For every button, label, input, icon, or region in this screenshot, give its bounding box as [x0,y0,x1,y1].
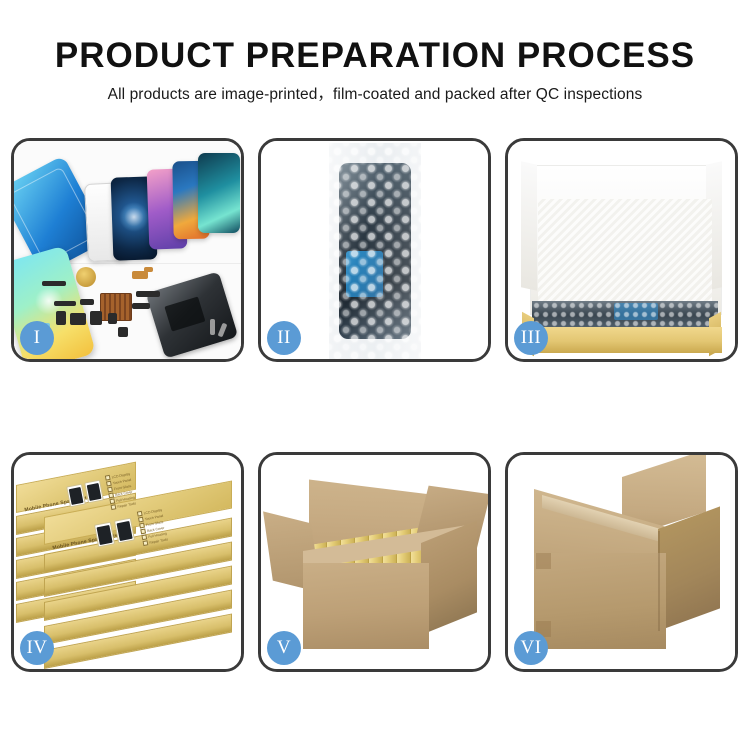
process-step-panel-6: VI [505,452,738,672]
dock-flex-part [132,303,150,309]
header: PRODUCT PREPARATION PROCESS All products… [0,0,750,104]
retail-box-front-6 [44,645,230,669]
process-step-grid: I II [11,138,739,672]
speaker-part [76,267,96,287]
bubble-wrap-sheet [329,143,421,359]
screw-cap-part [118,327,128,337]
step-badge-6: VI [514,631,548,665]
camera-module-part [70,313,86,325]
small-ic-part [80,299,94,305]
box-lid-flap-left [521,161,537,290]
box-front-kraft [528,327,722,353]
product-preparation-infographic: PRODUCT PREPARATION PROCESS All products… [0,0,750,750]
step-badge-4: IV [20,631,54,665]
step-badge-1: I [20,321,54,355]
carton-front-panel [303,563,429,649]
process-step-panel-5: V [258,452,491,672]
flex-tail-part [144,267,153,272]
page-title: PRODUCT PREPARATION PROCESS [0,0,750,76]
phone-screen-teal [198,153,240,233]
flex-cable-thin [54,301,76,306]
blue-screen-accent [614,303,659,320]
carton-corner-seam [658,531,660,631]
process-step-panel-3: III [505,138,738,362]
carton-front-panel [534,553,666,649]
carton-side-panel [658,506,720,631]
step-badge-5: V [267,631,301,665]
button-part [56,311,66,325]
foam-liner [538,199,712,303]
vibrator-part [108,313,117,324]
step-badge-2: II [267,321,301,355]
wrapped-items-in-box [532,301,718,329]
process-step-panel-1: I [11,138,244,362]
tweezer-part [210,319,215,335]
step-badge-3: III [514,321,548,355]
process-step-panel-2: II [258,138,491,362]
carton-flap-tab-top [536,553,551,569]
film-sheen [329,143,421,359]
antenna-flex-part [136,291,160,297]
taptic-part [90,311,102,325]
earpiece-mesh-part [42,281,66,286]
flex-cable-part [132,271,148,279]
process-step-panel-4: Mobile Phone Spare Parts LCD Display Tou… [11,452,244,672]
page-subtitle: All products are image-printed，film-coat… [0,76,750,104]
